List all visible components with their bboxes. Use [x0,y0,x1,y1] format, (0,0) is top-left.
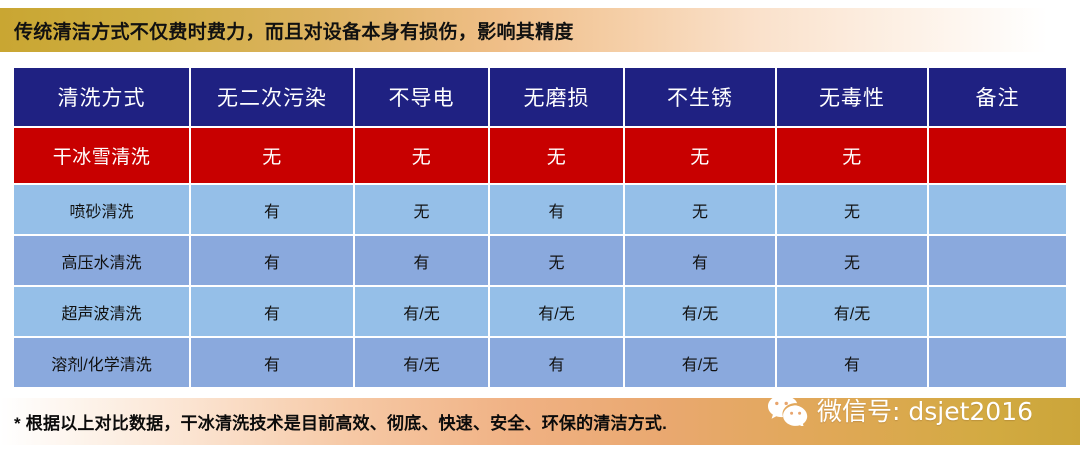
table-header: 清洗方式 无二次污染 不导电 无磨损 不生锈 无毒性 备注 [14,68,1066,126]
table-row: 超声波清洗 有 有/无 有/无 有/无 有/无 [14,287,1066,336]
column-header-no-abrasion: 无磨损 [490,68,623,126]
comparison-table-wrapper: 清洗方式 无二次污染 不导电 无磨损 不生锈 无毒性 备注 干冰雪清洗 无 无 … [12,66,1068,389]
table-cell: 无 [777,236,927,285]
column-header-no-secondary-pollution: 无二次污染 [191,68,353,126]
table-cell: 有 [191,185,353,234]
table-cell: 有 [355,236,488,285]
column-header-method: 清洗方式 [14,68,189,126]
table-cell-remarks [929,185,1066,234]
table-cell: 有/无 [355,338,488,387]
header-banner: 传统清洁方式不仅费时费力，而且对设备本身有损伤，影响其精度 [0,8,1080,52]
row-label: 高压水清洗 [14,236,189,285]
table-cell-remarks [929,338,1066,387]
footer-banner-text: * 根据以上对比数据，干冰清洗技术是目前高效、彻底、快速、安全、环保的清洁方式. [0,409,667,434]
row-label: 喷砂清洗 [14,185,189,234]
table-cell: 无 [777,185,927,234]
table-cell: 有 [191,287,353,336]
table-cell: 有 [490,185,623,234]
table-cell: 无 [490,128,623,183]
table-row: 喷砂清洗 有 无 有 无 无 [14,185,1066,234]
table-cell: 有/无 [625,287,775,336]
table-body: 干冰雪清洗 无 无 无 无 无 喷砂清洗 有 无 有 无 无 [14,128,1066,387]
table-cell-remarks [929,236,1066,285]
table-cell: 有/无 [490,287,623,336]
table-cell: 有 [191,338,353,387]
header-banner-text: 传统清洁方式不仅费时费力，而且对设备本身有损伤，影响其精度 [0,17,574,44]
column-header-non-conductive: 不导电 [355,68,488,126]
table-cell: 有/无 [777,287,927,336]
table-cell: 有 [490,338,623,387]
table-cell: 有/无 [625,338,775,387]
table-cell: 无 [355,128,488,183]
row-label: 干冰雪清洗 [14,128,189,183]
row-label: 超声波清洗 [14,287,189,336]
slide-page: 传统清洁方式不仅费时费力，而且对设备本身有损伤，影响其精度 清洗方式 无二次污染… [0,0,1080,465]
table-row: 干冰雪清洗 无 无 无 无 无 [14,128,1066,183]
table-cell: 有 [191,236,353,285]
table-cell: 有/无 [355,287,488,336]
table-cell: 无 [625,185,775,234]
table-header-row: 清洗方式 无二次污染 不导电 无磨损 不生锈 无毒性 备注 [14,68,1066,126]
column-header-non-toxic: 无毒性 [777,68,927,126]
table-row: 高压水清洗 有 有 无 有 无 [14,236,1066,285]
table-cell: 无 [355,185,488,234]
comparison-table: 清洗方式 无二次污染 不导电 无磨损 不生锈 无毒性 备注 干冰雪清洗 无 无 … [12,66,1068,389]
table-cell: 无 [191,128,353,183]
table-cell: 无 [490,236,623,285]
table-cell: 有 [777,338,927,387]
table-cell-remarks [929,128,1066,183]
table-cell: 无 [625,128,775,183]
table-cell: 有 [625,236,775,285]
table-cell: 无 [777,128,927,183]
row-label: 溶剂/化学清洗 [14,338,189,387]
table-row: 溶剂/化学清洗 有 有/无 有 有/无 有 [14,338,1066,387]
column-header-no-rust: 不生锈 [625,68,775,126]
footer-banner: * 根据以上对比数据，干冰清洗技术是目前高效、彻底、快速、安全、环保的清洁方式. [0,398,1080,445]
table-cell-remarks [929,287,1066,336]
column-header-remarks: 备注 [929,68,1066,126]
